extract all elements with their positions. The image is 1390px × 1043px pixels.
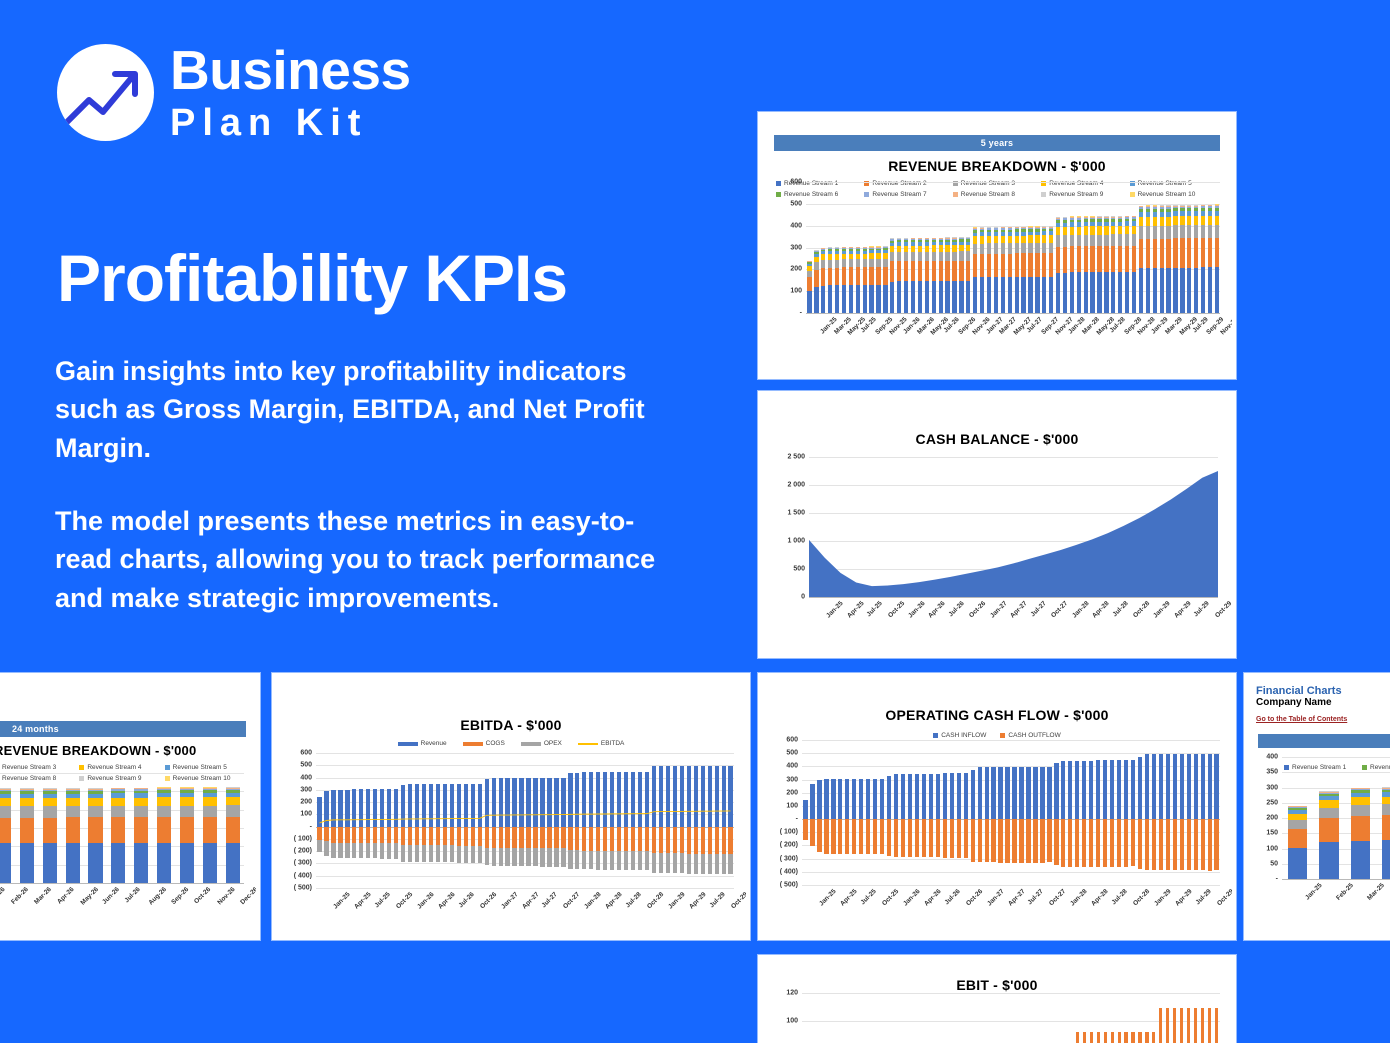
x-axis-tick: Oct-28 (646, 891, 665, 910)
bar-segment (1187, 754, 1191, 819)
bar-segment (897, 261, 901, 281)
bar-column (927, 993, 934, 1043)
bar-segment (835, 268, 839, 286)
x-axis-tick: Oct-28 (1132, 600, 1151, 619)
chart-legend: RevenueCOGSOPEXEBITDA (276, 740, 746, 747)
bar-segment (925, 261, 929, 281)
legend-item: Revenue Stream 5 (165, 764, 250, 771)
bar-segment (43, 798, 57, 806)
y-axis-tick: ( 200) (294, 848, 312, 855)
table-of-contents-link[interactable]: Go to the Table of Contents (1256, 716, 1347, 723)
x-axis-tick: Jul-25 (866, 600, 884, 618)
bar-segment (1083, 1032, 1086, 1043)
x-axis-tick: May-26 (79, 886, 100, 907)
x-axis-tick: Jul-29 (1193, 600, 1211, 618)
bar-segment (1047, 767, 1051, 819)
bar-segment (985, 767, 989, 819)
bar-segment (1132, 272, 1136, 313)
bar-segment (828, 285, 832, 313)
bar-segment (1097, 235, 1101, 247)
bar-segment (1118, 246, 1122, 272)
bar-column (868, 182, 875, 313)
x-axis-tick: Jan-25 (1304, 882, 1324, 902)
y-axis-tick: 500 (793, 566, 805, 573)
x-axis-tick: Oct-29 (1215, 888, 1232, 907)
bar-column (1018, 993, 1025, 1043)
bar-segment (873, 779, 877, 819)
bar-segment (1103, 819, 1107, 867)
legend-label: OPEX (544, 740, 562, 747)
card-revenue-breakdown-5y[interactable]: 5 years REVENUE BREAKDOWN - $'000 Revenu… (758, 112, 1236, 379)
bar-segment (1180, 754, 1184, 819)
page-title: Profitability KPIs (57, 240, 567, 316)
bar-segment (1166, 1008, 1169, 1043)
bar-segment (1173, 1008, 1176, 1043)
legend-swatch (79, 765, 84, 770)
y-axis-tick: ( 400) (294, 872, 312, 879)
bar-segment (1146, 239, 1150, 268)
bar-segment (1319, 842, 1338, 879)
x-axis-tick: Jan-28 (1071, 600, 1091, 620)
bar-segment (1215, 238, 1219, 267)
bar-segment (991, 767, 995, 819)
bar-segment (943, 819, 947, 857)
bar-segment (1160, 268, 1164, 313)
bar-segment (904, 252, 908, 261)
x-axis-tick: Oct-26 (479, 891, 498, 910)
x-axis-tick: Apr-27 (1009, 600, 1029, 620)
bar-segment (945, 252, 949, 261)
bar-segment (1166, 268, 1170, 313)
bar-column (1046, 740, 1053, 885)
card-financial-charts-rail[interactable]: Financial Charts Company Name Go to the … (1244, 673, 1390, 940)
legend-swatch (578, 743, 598, 745)
bar-segment (911, 261, 915, 281)
bar-column (1144, 182, 1151, 313)
bar-segment (43, 843, 57, 883)
bar-segment (1288, 848, 1307, 879)
bar-column (1171, 740, 1178, 885)
bar-segment (1056, 235, 1060, 247)
bar-segment (1040, 767, 1044, 820)
bar-segment (1160, 226, 1164, 239)
y-axis-tick: 250 (1266, 799, 1278, 806)
bar-segment (835, 285, 839, 313)
bar-segment (831, 819, 835, 854)
plot-area: 600500400300200100- (806, 182, 1220, 313)
x-axis-tick: Jan-27 (986, 888, 1006, 908)
bar-column (969, 740, 976, 885)
bar-segment (987, 277, 991, 313)
x-axis-tick: Jul-26 (947, 600, 965, 618)
bar-column (1055, 182, 1062, 313)
chart-title-cash-balance: CASH BALANCE - $'000 (762, 431, 1232, 447)
bar-segment (1118, 272, 1122, 313)
bar-segment (1208, 216, 1212, 225)
bar-segment (803, 800, 807, 820)
card-operating-cash-flow[interactable]: OPERATING CASH FLOW - $'000 CASH INFLOWC… (758, 673, 1236, 940)
x-axis-tick: Jun-26 (102, 886, 122, 906)
hero-paragraph-1: Gain insights into key profitability ind… (55, 352, 670, 467)
bar-segment (807, 291, 811, 313)
bar-series (0, 773, 244, 883)
bar-segment (88, 817, 102, 843)
x-axis-tick: Jul-25 (860, 888, 878, 906)
bar-segment (1063, 273, 1067, 313)
x-axis-labels: Jan-25Apr-25Jul-25Oct-25Jan-26Apr-26Jul-… (809, 598, 1218, 642)
bar-segment (973, 277, 977, 313)
slide-canvas: Business Plan Kit Profitability KPIs Gai… (0, 0, 1390, 1043)
bar-column (1193, 182, 1200, 313)
bar-segment (945, 261, 949, 281)
bar-column (934, 993, 941, 1043)
legend-item: Revenue Stream 3 (0, 764, 79, 771)
bar-column (1088, 740, 1095, 885)
bar-segment (1125, 246, 1129, 272)
y-axis-tick: 1 500 (787, 510, 805, 517)
bar-column (854, 182, 861, 313)
x-axis-tick: Jan-27 (500, 891, 520, 911)
sheet-band-24-months: 24 months (0, 721, 246, 737)
bar-segment (0, 806, 11, 817)
x-axis-tick: Oct-29 (1214, 600, 1232, 619)
bar-segment (901, 819, 905, 857)
bar-segment (1097, 272, 1101, 313)
legend-item: OPEX (521, 740, 562, 747)
bar-column (999, 182, 1006, 313)
bar-segment (894, 774, 898, 819)
bar-segment (1187, 225, 1191, 238)
bar-segment (1131, 1032, 1134, 1043)
bar-column (1095, 993, 1102, 1043)
bar-segment (1104, 246, 1108, 272)
bar-segment (1153, 268, 1157, 313)
legend-item: Revenue (398, 740, 447, 747)
bar-segment (1054, 763, 1058, 819)
bar-segment (1187, 819, 1191, 870)
bar-segment (831, 779, 835, 819)
bar-segment (904, 261, 908, 281)
bar-column (1013, 182, 1020, 313)
bar-column (958, 182, 965, 313)
bar-segment (1096, 760, 1100, 819)
bar-column (893, 993, 900, 1043)
bar-segment (226, 805, 240, 817)
bar-segment (838, 819, 842, 854)
bar-column (1199, 740, 1206, 885)
bar-column (882, 182, 889, 313)
bar-segment (88, 843, 102, 883)
bar-column (1157, 993, 1164, 1043)
x-axis-tick: Apr-26 (437, 891, 457, 911)
legend-swatch (398, 742, 418, 746)
bar-segment (866, 779, 870, 819)
bar-column (914, 993, 921, 1043)
x-axis-tick: Jul-28 (625, 891, 643, 909)
bar-segment (1201, 225, 1205, 238)
bar-column (1053, 740, 1060, 885)
bar-segment (1351, 805, 1370, 816)
bar-segment (1008, 243, 1012, 253)
bar-segment (929, 774, 933, 820)
bar-column (823, 740, 830, 885)
y-axis-tick: ( 500) (294, 885, 312, 892)
bar-column (809, 993, 816, 1043)
bar-column (1164, 740, 1171, 885)
x-axis-tick: Jul-29 (1194, 888, 1212, 906)
bar-segment (66, 817, 80, 843)
x-axis-tick: Oct-25 (886, 600, 905, 619)
x-axis-tick: Mar-25 (1366, 882, 1386, 902)
x-axis-tick: Apr-29 (1173, 600, 1193, 620)
x-axis-tick: Jan-26 (416, 891, 436, 911)
x-axis-tick: Oct-26 (193, 886, 212, 905)
bar-column (865, 993, 872, 1043)
bar-segment (1132, 234, 1136, 246)
bar-column (927, 740, 934, 885)
bar-segment (1138, 1032, 1141, 1043)
bar-segment (939, 252, 943, 261)
bar-segment (1111, 246, 1115, 272)
y-axis-tick: 300 (300, 786, 312, 793)
bar-column (851, 740, 858, 885)
bar-segment (1201, 1008, 1204, 1043)
y-axis-tick: 2 000 (787, 482, 805, 489)
bar-segment (1382, 804, 1390, 815)
bar-column (1089, 182, 1096, 313)
bar-segment (859, 779, 863, 819)
x-axis-tick: Oct-27 (1048, 888, 1067, 907)
bar-column (979, 182, 986, 313)
brand-name-line2: Plan Kit (170, 104, 411, 142)
bar-column (990, 740, 997, 885)
y-axis-tick: 400 (790, 222, 802, 229)
bar-column (1131, 182, 1138, 313)
x-axis-tick: Jan-28 (583, 891, 603, 911)
bar-segment (1110, 819, 1114, 867)
bar-segment (925, 252, 929, 261)
bar-segment (1118, 234, 1122, 246)
bar-segment (849, 267, 853, 285)
bar-segment (1063, 235, 1067, 247)
bar-segment (180, 797, 194, 805)
bar-segment (810, 784, 814, 819)
bar-segment (936, 774, 940, 820)
bar-segment (1180, 819, 1184, 870)
bar-segment (1201, 238, 1205, 267)
legend-label: Revenue Stream 5 (173, 764, 227, 771)
bar-segment (1214, 754, 1218, 819)
bar-segment (873, 819, 877, 854)
bar-segment (66, 843, 80, 883)
x-axis-tick: Oct-25 (881, 888, 900, 907)
bar-segment (1159, 819, 1163, 870)
bar-segment (1111, 272, 1115, 313)
bar-segment (887, 819, 891, 856)
bar-column (1060, 740, 1067, 885)
bar-column (962, 993, 969, 1043)
bar-segment (835, 260, 839, 268)
bar-segment (821, 260, 825, 268)
bar-segment (20, 806, 34, 817)
bar-column (813, 182, 820, 313)
bar-column (809, 740, 816, 885)
bar-segment (1145, 819, 1149, 870)
x-axis-tick: Jul-26 (943, 888, 961, 906)
bar-segment (1319, 808, 1338, 819)
card-cash-balance[interactable]: CASH BALANCE - $'000 2 5002 0001 5001 00… (758, 391, 1236, 658)
bar-segment (978, 819, 982, 862)
y-axis-tick: 400 (1266, 754, 1278, 761)
bar-segment (980, 236, 984, 243)
bar-segment (1124, 760, 1128, 819)
bar-segment (859, 819, 863, 854)
legend-label: CASH INFLOW (941, 732, 986, 739)
bar-segment (1145, 1032, 1148, 1043)
bar-segment (856, 259, 860, 267)
x-axis-tick: Apr-28 (604, 891, 624, 911)
bar-segment (803, 819, 807, 840)
brand-logo: Business Plan Kit (57, 43, 411, 142)
bar-column (1027, 182, 1034, 313)
bar-segment (959, 281, 963, 313)
hero-description: Gain insights into key profitability ind… (55, 352, 670, 617)
bar-segment (1159, 754, 1163, 819)
bar-segment (180, 817, 194, 843)
bar-column (986, 182, 993, 313)
bar-segment (1097, 226, 1101, 234)
bar-segment (111, 843, 125, 883)
bar-column (1039, 993, 1046, 1043)
bar-segment (1194, 216, 1198, 225)
bar-column (858, 740, 865, 885)
bar-segment (950, 773, 954, 819)
sheet-band-5-years: 5 years (774, 135, 1220, 151)
bar-segment (866, 819, 870, 854)
bar-segment (936, 819, 940, 857)
bar-segment (1110, 760, 1114, 819)
area-series (809, 457, 1218, 597)
bar-segment (852, 779, 856, 819)
bar-segment (1097, 1032, 1100, 1043)
bar-column (847, 182, 854, 313)
bar-segment (1208, 225, 1212, 238)
card-ebit[interactable]: EBIT - $'000 12010080 (758, 955, 1236, 1043)
bar-series (802, 993, 1220, 1043)
legend-swatch (521, 742, 541, 746)
bar-column (1171, 993, 1178, 1043)
bar-segment (869, 267, 873, 285)
card-ebitda[interactable]: EBITDA - $'000 RevenueCOGSOPEXEBITDA 600… (272, 673, 750, 940)
bar-segment (929, 819, 933, 857)
bar-segment (890, 261, 894, 281)
bar-column (1110, 182, 1117, 313)
bar-segment (828, 260, 832, 268)
x-axis-tick: Jan-28 (1069, 888, 1089, 908)
plot-area (0, 773, 244, 883)
bar-series (806, 182, 1220, 313)
card-revenue-breakdown-24m[interactable]: 24 months REVENUE BREAKDOWN - $'000 Reve… (0, 673, 260, 940)
bar-segment (842, 267, 846, 285)
bar-segment (1096, 819, 1100, 867)
bar-segment (1187, 238, 1191, 267)
x-axis-tick: Oct-29 (729, 891, 746, 910)
bar-segment (894, 819, 898, 857)
bar-column (907, 740, 914, 885)
bar-segment (987, 243, 991, 253)
bar-column (900, 740, 907, 885)
x-axis-tick: Jan-29 (1152, 600, 1172, 620)
bar-column (1018, 740, 1025, 885)
bar-segment (880, 779, 884, 819)
bar-segment (883, 259, 887, 267)
bar-column (107, 773, 130, 883)
bar-column (1082, 182, 1089, 313)
bar-segment (1084, 235, 1088, 247)
bar-segment (1104, 272, 1108, 313)
bar-segment (849, 259, 853, 267)
bar-segment (1012, 819, 1016, 863)
bar-segment (842, 285, 846, 313)
bar-column (827, 182, 834, 313)
y-axis-tick: ( 300) (294, 860, 312, 867)
bar-segment (911, 252, 915, 261)
bar-segment (1187, 216, 1191, 225)
bar-segment (966, 251, 970, 260)
bar-column (903, 182, 910, 313)
bar-column (983, 740, 990, 885)
bar-segment (1061, 761, 1065, 819)
chart-title-ebitda: EBITDA - $'000 (276, 717, 746, 733)
bar-segment (1063, 247, 1067, 273)
bar-segment (1319, 818, 1338, 842)
bar-column (969, 993, 976, 1043)
bar-segment (1382, 797, 1390, 805)
bar-column (1116, 993, 1123, 1043)
bar-segment (987, 254, 991, 277)
bar-column (1199, 993, 1206, 1043)
bar-column (1067, 993, 1074, 1043)
bar-segment (1084, 226, 1088, 234)
y-axis-tick: 50 (1270, 860, 1278, 867)
bar-segment (939, 281, 943, 313)
bar-segment (817, 819, 821, 852)
legend-item: EBITDA (578, 740, 624, 747)
bar-segment (964, 773, 968, 819)
bar-segment (918, 261, 922, 281)
bar-segment (980, 244, 984, 254)
bar-column (1213, 182, 1220, 313)
bar-segment (828, 268, 832, 286)
x-axis-tick: Jul-28 (1111, 888, 1129, 906)
bar-segment (1152, 819, 1156, 870)
bar-segment (890, 282, 894, 313)
bar-column (0, 773, 15, 883)
bar-segment (1068, 819, 1072, 867)
bar-column (1103, 182, 1110, 313)
bar-segment (1104, 235, 1108, 247)
sheet-band (1258, 734, 1390, 748)
bar-column (923, 182, 930, 313)
bar-segment (1124, 1032, 1127, 1043)
bar-column (910, 182, 917, 313)
bar-segment (838, 779, 842, 819)
bar-segment (959, 261, 963, 282)
y-axis-tick: ( 100) (294, 835, 312, 842)
bar-column (962, 740, 969, 885)
bar-segment (1139, 217, 1143, 226)
bar-segment (980, 254, 984, 277)
